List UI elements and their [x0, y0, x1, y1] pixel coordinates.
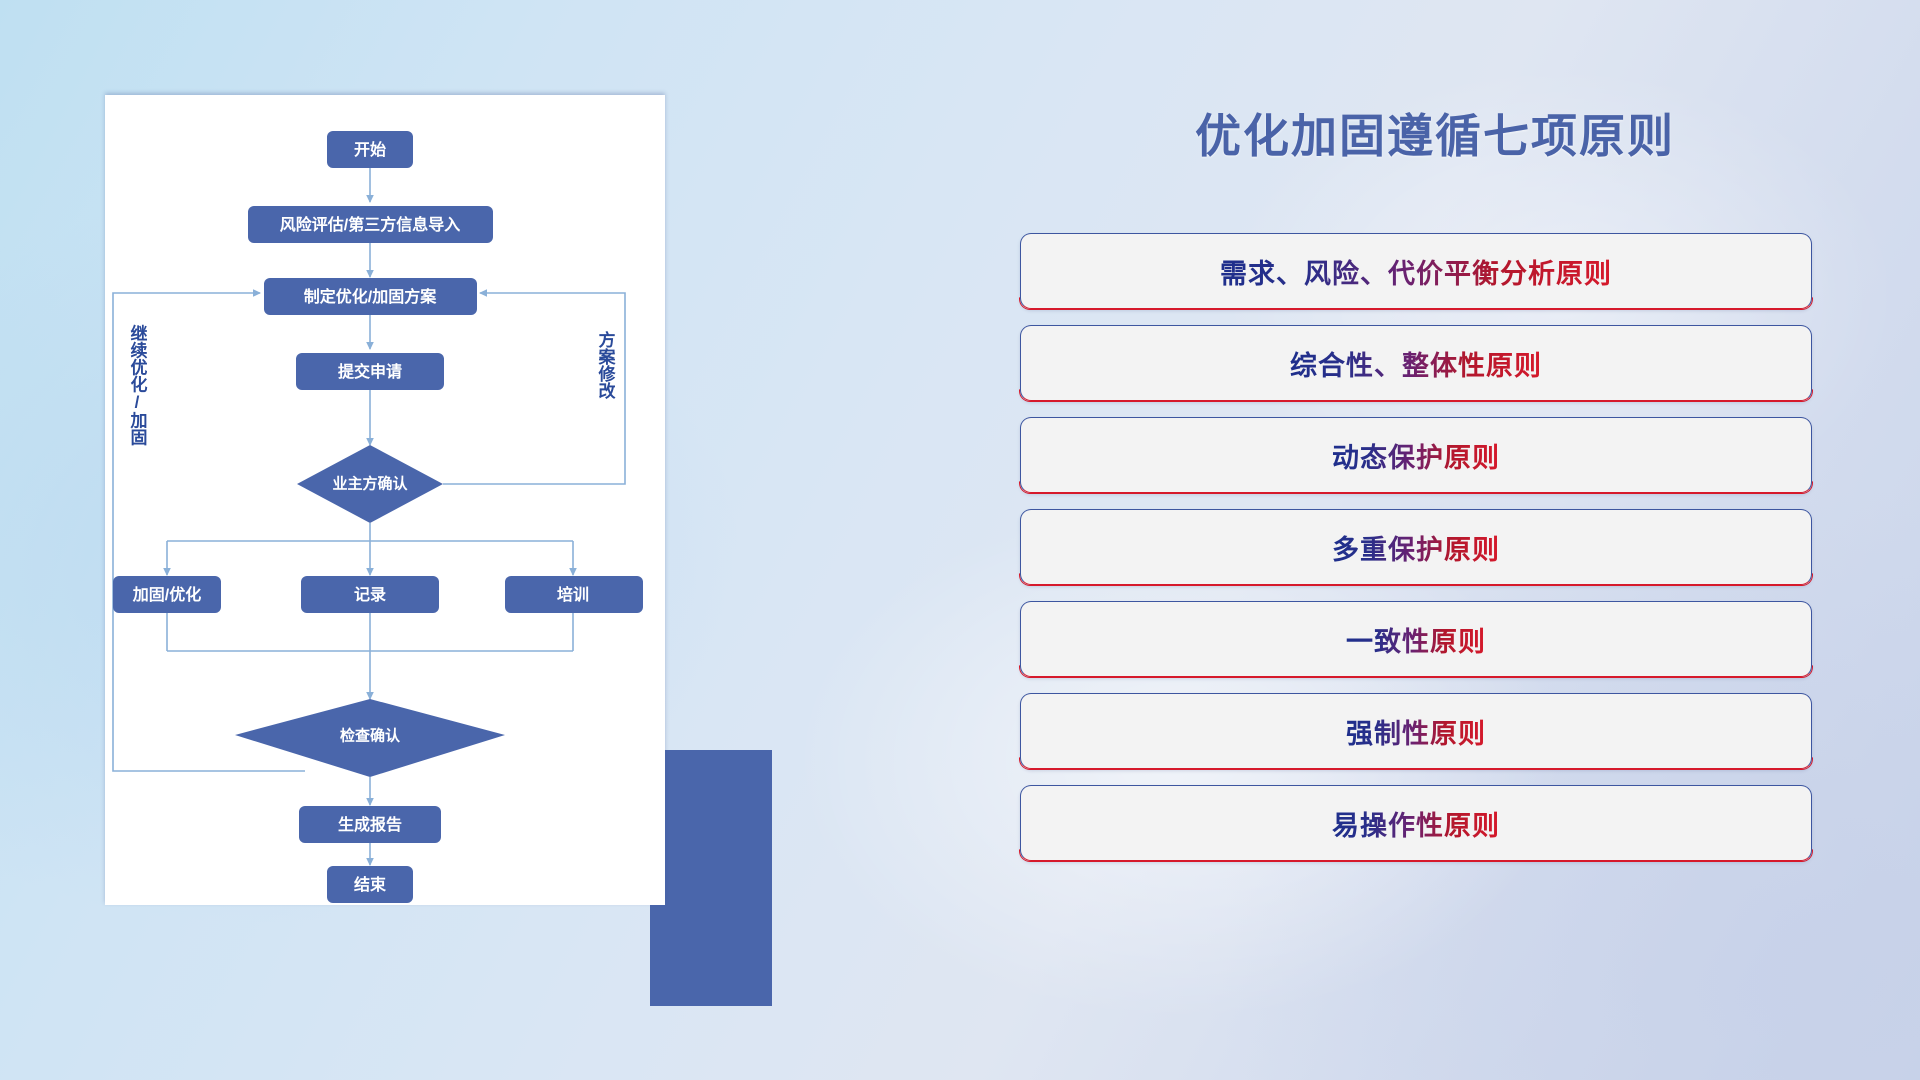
flow-node-inspect-confirm[interactable]: 检查确认 — [235, 699, 505, 777]
principles-list: 需求、风险、代价平衡分析原则 综合性、整体性原则 动态保护原则 多重保护原则 一… — [1020, 233, 1850, 877]
principle-item-2-label: 综合性、整体性原则 — [1290, 344, 1542, 383]
flowchart-panel: 开始 风险评估/第三方信息导入 制定优化/加固方案 提交申请 业主方确认 — [105, 95, 665, 905]
flow-node-record-label: 记录 — [354, 586, 386, 604]
flow-node-owner-confirm-label: 业主方确认 — [332, 475, 408, 493]
flow-node-plan[interactable]: 制定优化/加固方案 — [264, 278, 477, 315]
flowchart-accent-block — [650, 750, 772, 1006]
flow-edge-label-right-loop: 方案修改 — [596, 330, 617, 400]
principle-item-4-label: 多重保护原则 — [1332, 528, 1500, 567]
flow-node-risk-assessment-label: 风险评估/第三方信息导入 — [280, 215, 460, 234]
flow-node-record[interactable]: 记录 — [301, 576, 439, 613]
flow-node-training-label: 培训 — [557, 585, 589, 604]
principle-item-1[interactable]: 需求、风险、代价平衡分析原则 — [1020, 233, 1812, 309]
flow-node-submit-label: 提交申请 — [338, 362, 402, 381]
principle-item-1-label: 需求、风险、代价平衡分析原则 — [1220, 252, 1612, 291]
principle-item-5-label: 一致性原则 — [1346, 620, 1486, 659]
flow-node-reinforce[interactable]: 加固/优化 — [113, 576, 221, 613]
flow-node-start-label: 开始 — [354, 140, 386, 159]
principles-panel: 优化加固遵循七项原则 需求、风险、代价平衡分析原则 综合性、整体性原则 动态保护… — [1020, 0, 1850, 1080]
principle-item-7[interactable]: 易操作性原则 — [1020, 785, 1812, 861]
flow-node-risk-assessment[interactable]: 风险评估/第三方信息导入 — [248, 206, 493, 243]
principle-item-6[interactable]: 强制性原则 — [1020, 693, 1812, 769]
page-title: 优化加固遵循七项原则 — [1020, 100, 1850, 166]
flow-node-reinforce-label: 加固/优化 — [132, 585, 201, 604]
principle-item-3[interactable]: 动态保护原则 — [1020, 417, 1812, 493]
flowchart-svg: 开始 风险评估/第三方信息导入 制定优化/加固方案 提交申请 业主方确认 — [105, 95, 665, 905]
flow-node-submit[interactable]: 提交申请 — [296, 353, 444, 390]
flow-node-end[interactable]: 结束 — [327, 866, 413, 903]
flow-node-end-label: 结束 — [353, 875, 387, 894]
flow-node-plan-label: 制定优化/加固方案 — [304, 287, 437, 306]
principle-item-3-label: 动态保护原则 — [1332, 436, 1500, 475]
flow-node-start[interactable]: 开始 — [327, 131, 413, 168]
principle-item-5[interactable]: 一致性原则 — [1020, 601, 1812, 677]
flow-node-training[interactable]: 培训 — [505, 576, 643, 613]
flow-edge-label-left-loop: 继续优化/加固 — [128, 323, 149, 446]
principle-item-7-label: 易操作性原则 — [1332, 804, 1500, 843]
principle-item-6-label: 强制性原则 — [1346, 712, 1486, 751]
flow-node-inspect-confirm-label: 检查确认 — [340, 727, 401, 745]
flow-node-report[interactable]: 生成报告 — [299, 806, 441, 843]
flow-node-owner-confirm[interactable]: 业主方确认 — [297, 445, 443, 523]
flowchart-card: 开始 风险评估/第三方信息导入 制定优化/加固方案 提交申请 业主方确认 — [105, 95, 665, 905]
principle-item-4[interactable]: 多重保护原则 — [1020, 509, 1812, 585]
principle-item-2[interactable]: 综合性、整体性原则 — [1020, 325, 1812, 401]
flow-node-report-label: 生成报告 — [338, 815, 402, 834]
